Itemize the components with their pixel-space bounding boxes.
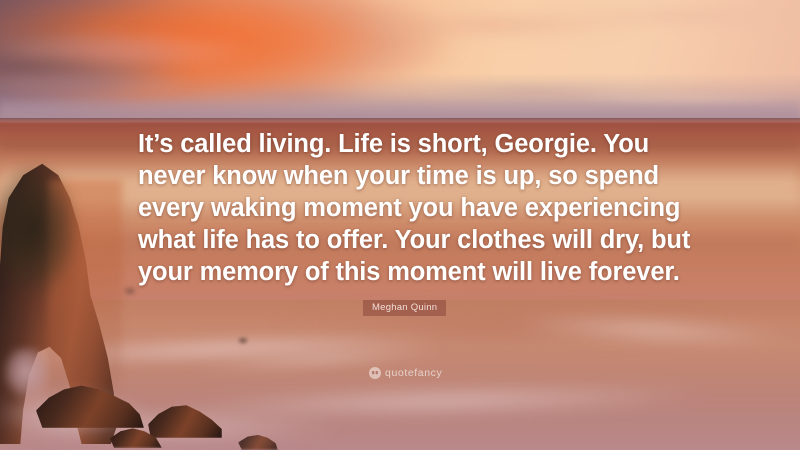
cloud-wisp-right bbox=[520, 2, 800, 30]
quote-container: It’s called living. Life is short, Georg… bbox=[138, 128, 694, 288]
distant-rock-speck-secondary bbox=[122, 286, 138, 296]
quote-line-4: what life has to offer. Your clothes wil… bbox=[138, 224, 694, 256]
quote-mark-circle-icon bbox=[369, 367, 381, 379]
horizon-line bbox=[0, 118, 800, 121]
quotefancy-watermark: quotefancy bbox=[369, 367, 442, 379]
distant-rock-speck bbox=[236, 336, 250, 345]
watermark-brand-text: quotefancy bbox=[385, 367, 442, 379]
quote-line-3: every waking moment you have experiencin… bbox=[138, 192, 694, 224]
rock-dark-moss bbox=[0, 164, 86, 314]
quote-line-5: your memory of this moment will live for… bbox=[138, 256, 694, 288]
quote-line-1: It’s called living. Life is short, Georg… bbox=[138, 128, 694, 160]
quote-wallpaper: It’s called living. Life is short, Georg… bbox=[0, 0, 800, 450]
quote-line-2: never know when your time is up, so spen… bbox=[138, 160, 694, 192]
author-badge: Meghan Quinn bbox=[363, 300, 446, 316]
